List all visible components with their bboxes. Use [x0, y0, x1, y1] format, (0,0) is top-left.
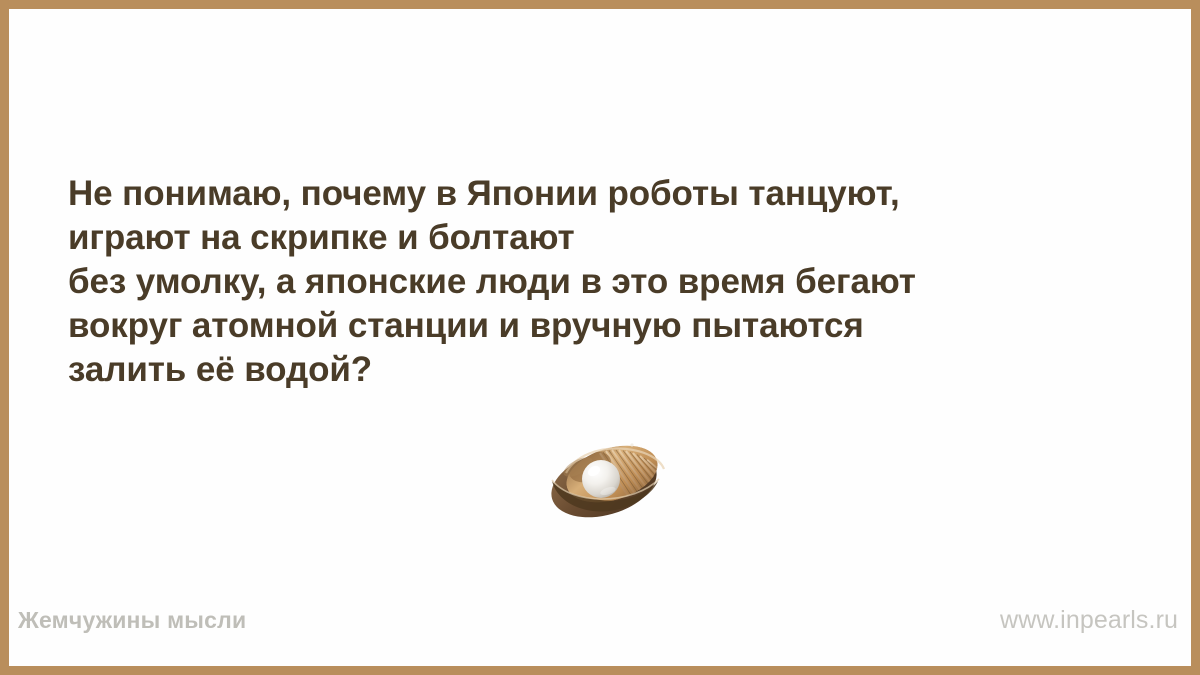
- oyster-shell-with-pearl-icon: [542, 437, 677, 527]
- site-url-label: www.inpearls.ru: [1000, 606, 1178, 635]
- quote-line-2: играют на скрипке и болтают: [68, 216, 1158, 260]
- site-brand-label: Жемчужины мысли: [18, 607, 246, 634]
- footer-bar: Жемчужины мысли www.inpearls.ru: [9, 601, 1191, 657]
- quote-line-4: вокруг атомной станции и вручную пытаютс…: [68, 304, 1158, 348]
- quote-line-3: без умолку, а японские люди в это время …: [68, 260, 1158, 304]
- quote-text: Не понимаю, почему в Японии роботы танцу…: [68, 172, 1158, 392]
- quote-line-1: Не понимаю, почему в Японии роботы танцу…: [68, 172, 1158, 216]
- quote-card: Не понимаю, почему в Японии роботы танцу…: [0, 0, 1200, 675]
- quote-line-5: залить её водой?: [68, 348, 1158, 392]
